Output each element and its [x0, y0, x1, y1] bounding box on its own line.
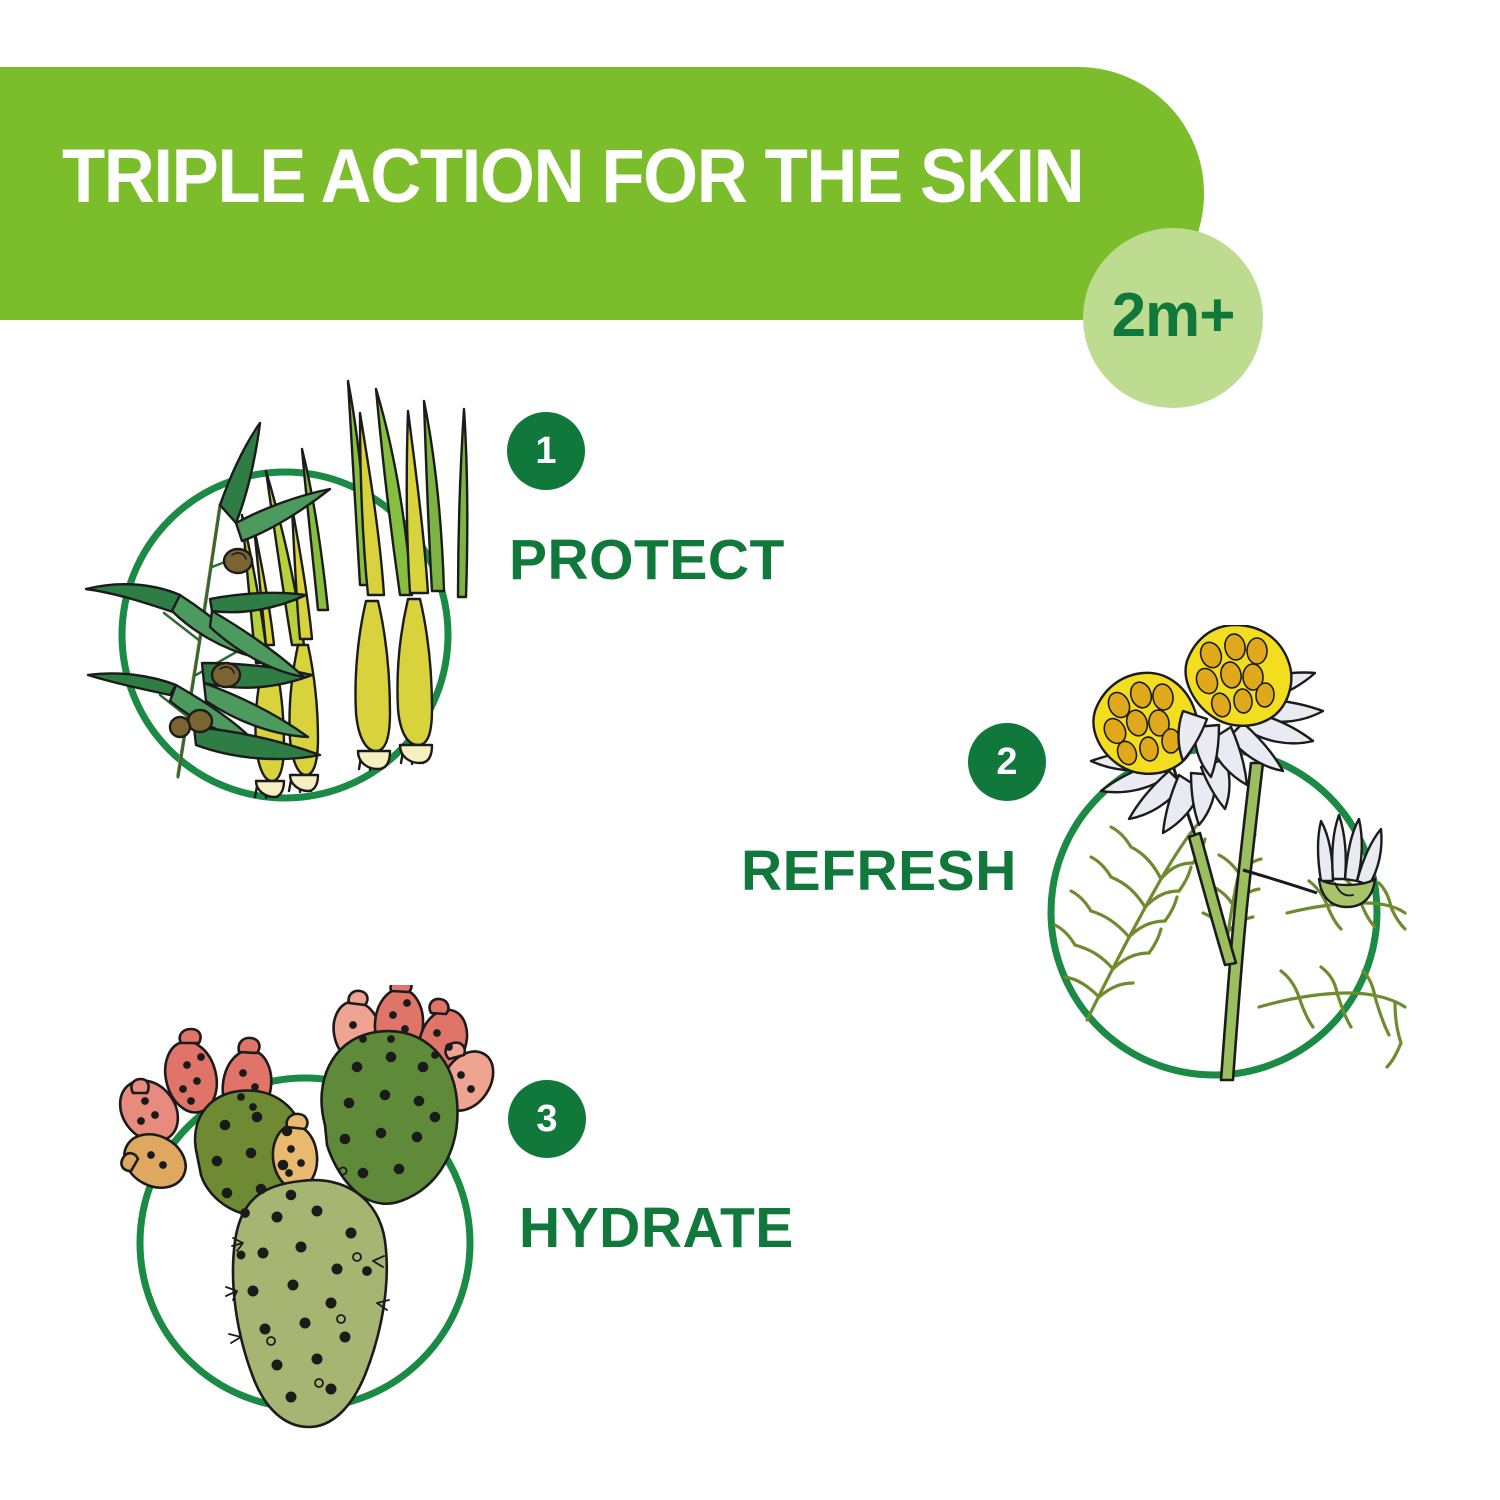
step-label-protect: PROTECT — [509, 532, 785, 589]
step-number-2: 2 — [996, 743, 1017, 781]
prickly-pear-cactus-illustration — [105, 985, 505, 1435]
step-number-badge-1: 1 — [507, 412, 585, 490]
step-number-1: 1 — [535, 432, 556, 470]
step-number-3: 3 — [536, 1100, 557, 1138]
olive-branch-and-lemongrass-illustration — [60, 345, 500, 815]
chamomile-flower-illustration — [1035, 625, 1465, 1090]
age-badge: 2m+ — [1083, 228, 1263, 408]
step-number-badge-3: 3 — [508, 1080, 586, 1158]
step-label-hydrate: HYDRATE — [519, 1200, 794, 1257]
step-number-badge-2: 2 — [968, 723, 1046, 801]
step-label-refresh: REFRESH — [741, 843, 1017, 900]
page-title: TRIPLE ACTION FOR THE SKIN — [62, 139, 1083, 215]
age-badge-label: 2m+ — [1112, 285, 1235, 347]
